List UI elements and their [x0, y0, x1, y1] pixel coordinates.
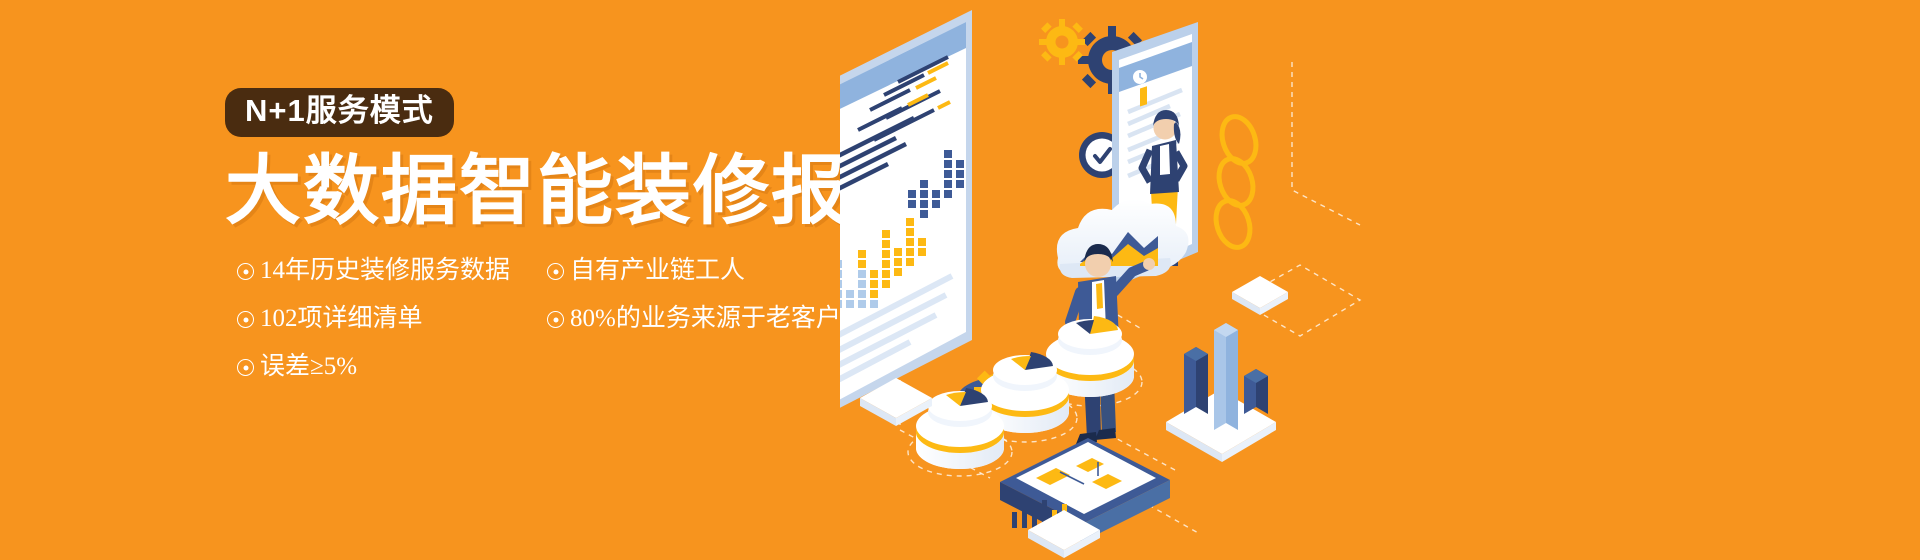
feature-column-right: 自有产业链工人 80%的业务来源于老客户 [547, 258, 857, 402]
promo-banner: N+1服务模式 大数据智能装修报价 14年历史装修服务数据 102项详细清单 误… [0, 0, 1920, 560]
isometric-illustration [840, 0, 1460, 560]
feature-list: 14年历史装修服务数据 102项详细清单 误差≥5% 自有产业链工人 [237, 258, 857, 402]
list-item: 自有产业链工人 [547, 258, 857, 283]
service-model-badge: N+1服务模式 [225, 88, 454, 137]
list-item: 80%的业务来源于老客户 [547, 306, 857, 331]
ring-stack-icon [1210, 112, 1261, 252]
cloud-shape [1057, 199, 1189, 278]
circle-dot-icon [237, 359, 254, 376]
circle-dot-icon [237, 263, 254, 280]
list-item-label: 14年历史装修服务数据 [260, 258, 510, 283]
page-title: 大数据智能装修报价 [225, 153, 925, 231]
list-item-label: 自有产业链工人 [570, 258, 745, 283]
browser-window-dashboard [840, 10, 972, 436]
circle-dot-icon [547, 311, 564, 328]
feature-column-left: 14年历史装修服务数据 102项详细清单 误差≥5% [237, 258, 547, 402]
banner-text-block: N+1服务模式 大数据智能装修报价 14年历史装修服务数据 102项详细清单 误… [225, 88, 925, 402]
list-item: 14年历史装修服务数据 [237, 258, 547, 283]
list-item-label: 误差≥5% [260, 354, 357, 379]
list-item: 102项详细清单 [237, 306, 547, 331]
circle-dot-icon [237, 311, 254, 328]
gear-small-icon [1039, 19, 1085, 65]
bar-chart-pedestal [1166, 323, 1276, 462]
list-item: 误差≥5% [237, 354, 547, 379]
list-item-label: 102项详细清单 [260, 306, 423, 331]
circle-dot-icon [547, 263, 564, 280]
list-item-label: 80%的业务来源于老客户 [570, 306, 841, 331]
floating-tile-right [1232, 276, 1288, 315]
